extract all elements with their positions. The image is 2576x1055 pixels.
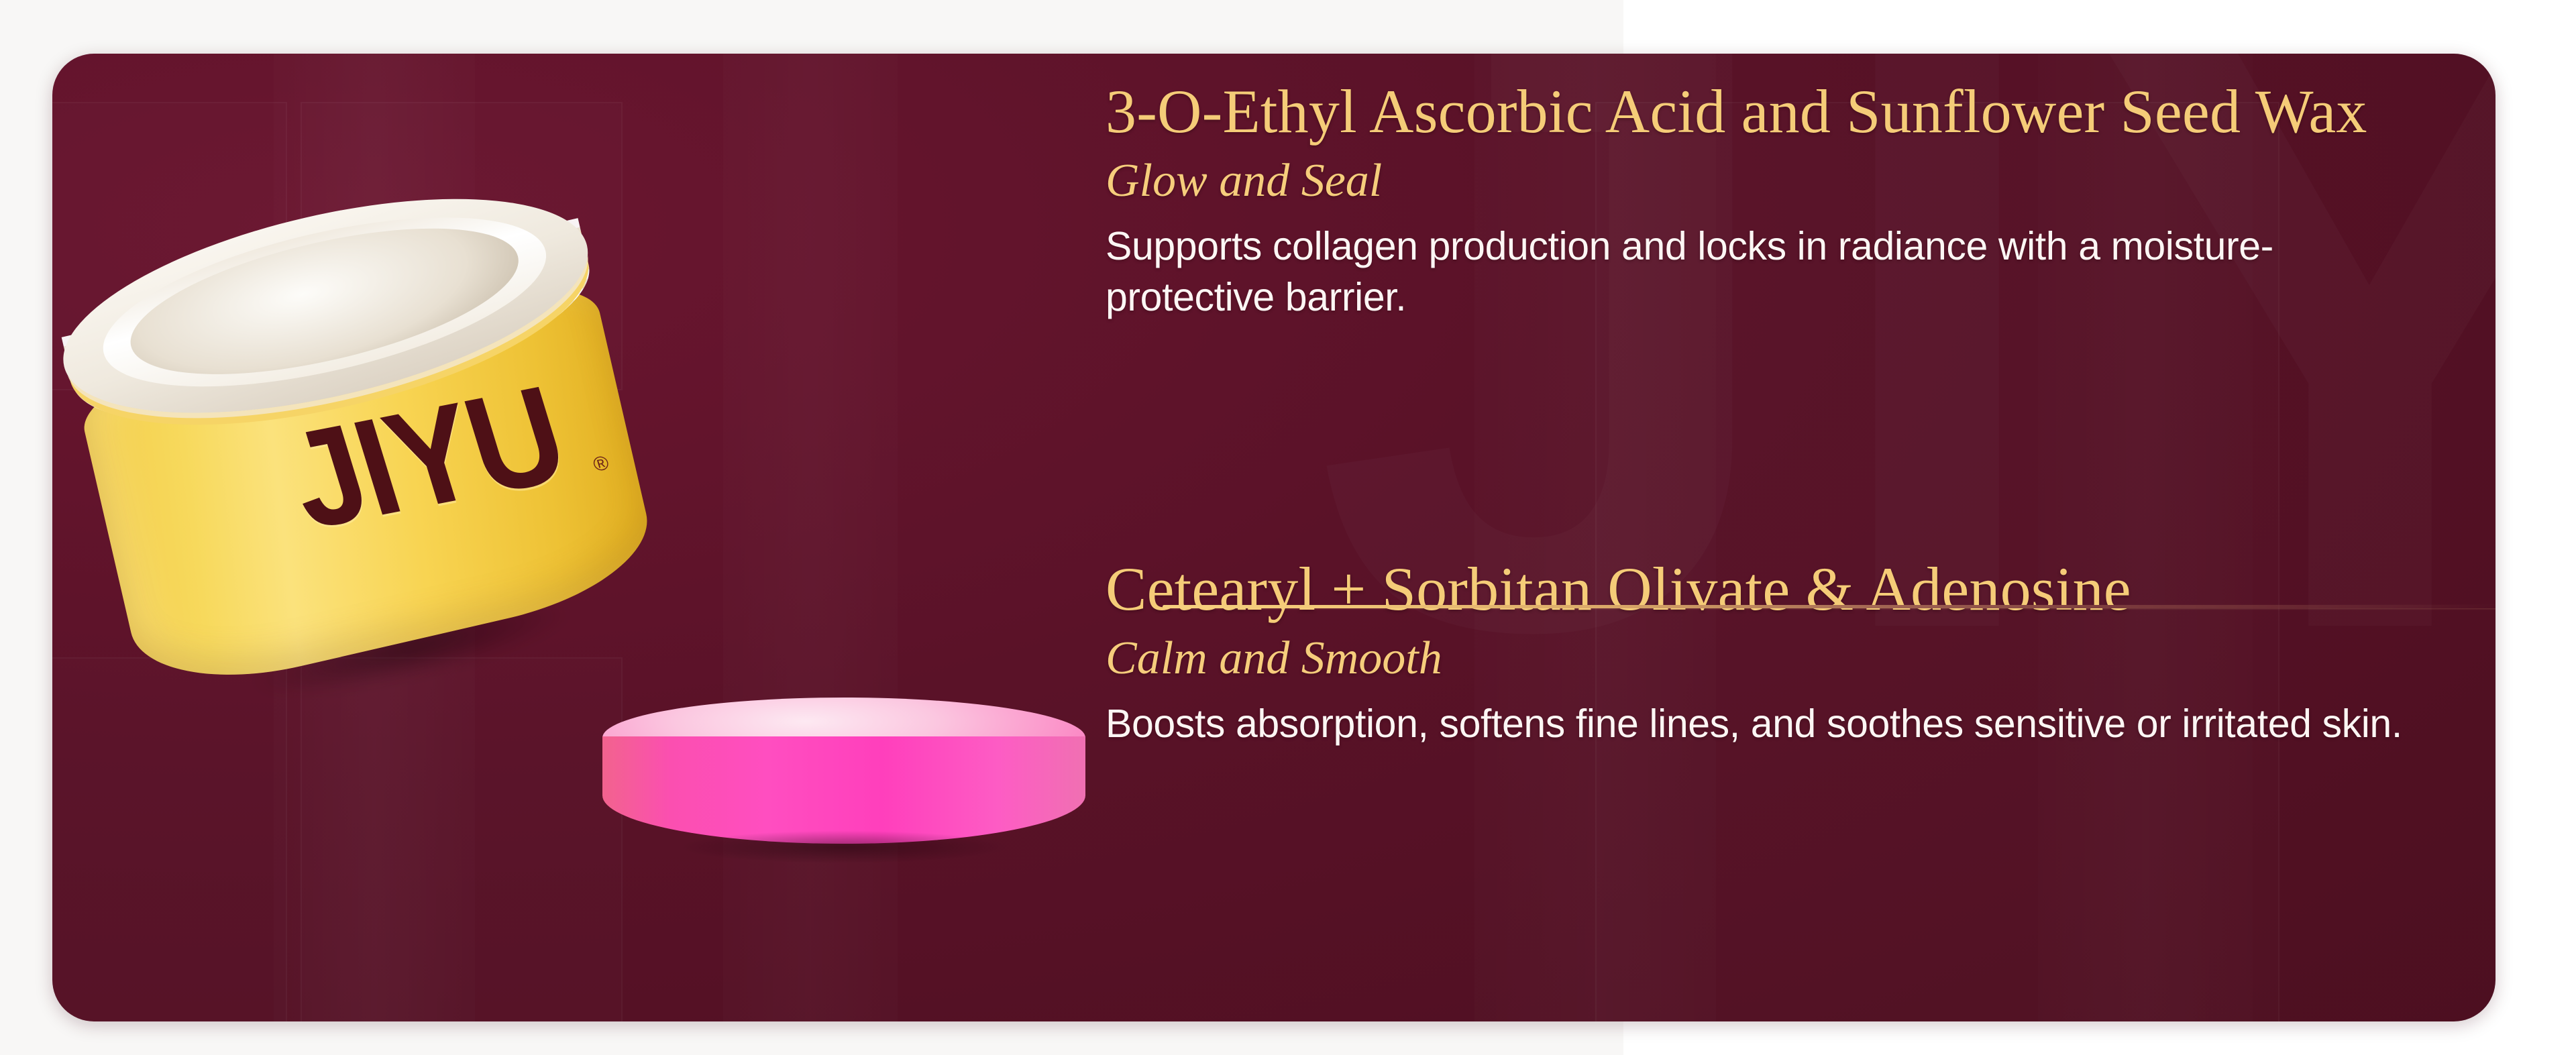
ingredient-list: 3-O-Ethyl Ascorbic Acid and Sunflower Se… [1106,54,2454,1021]
ingredient-subtitle: Calm and Smooth [1106,628,2434,689]
ingredient-title: Cetearyl + Sorbitan Olivate & Adenosine [1106,555,2434,623]
ingredient-description: Boosts absorption, softens fine lines, a… [1106,698,2434,750]
ingredient-item: 3-O-Ethyl Ascorbic Acid and Sunflower Se… [1106,78,2434,323]
ingredient-description: Supports collagen production and locks i… [1106,221,2434,323]
ingredient-item: Cetearyl + Sorbitan Olivate & Adenosine … [1106,555,2434,749]
product-brand-wordmark: JIYU [274,366,578,550]
page-root: JIYU JIYU ® [0,0,2576,1055]
section-divider [1163,605,2495,608]
ingredient-card: JIYU JIYU ® [52,54,2495,1021]
product-lid-shadow [609,824,1079,871]
product-lid [602,698,1085,865]
ingredient-title: 3-O-Ethyl Ascorbic Acid and Sunflower Se… [1106,78,2434,146]
ingredient-subtitle: Glow and Seal [1106,151,2434,211]
product-jar: JIYU ® [52,150,705,735]
product-image: JIYU ® [52,121,1099,979]
